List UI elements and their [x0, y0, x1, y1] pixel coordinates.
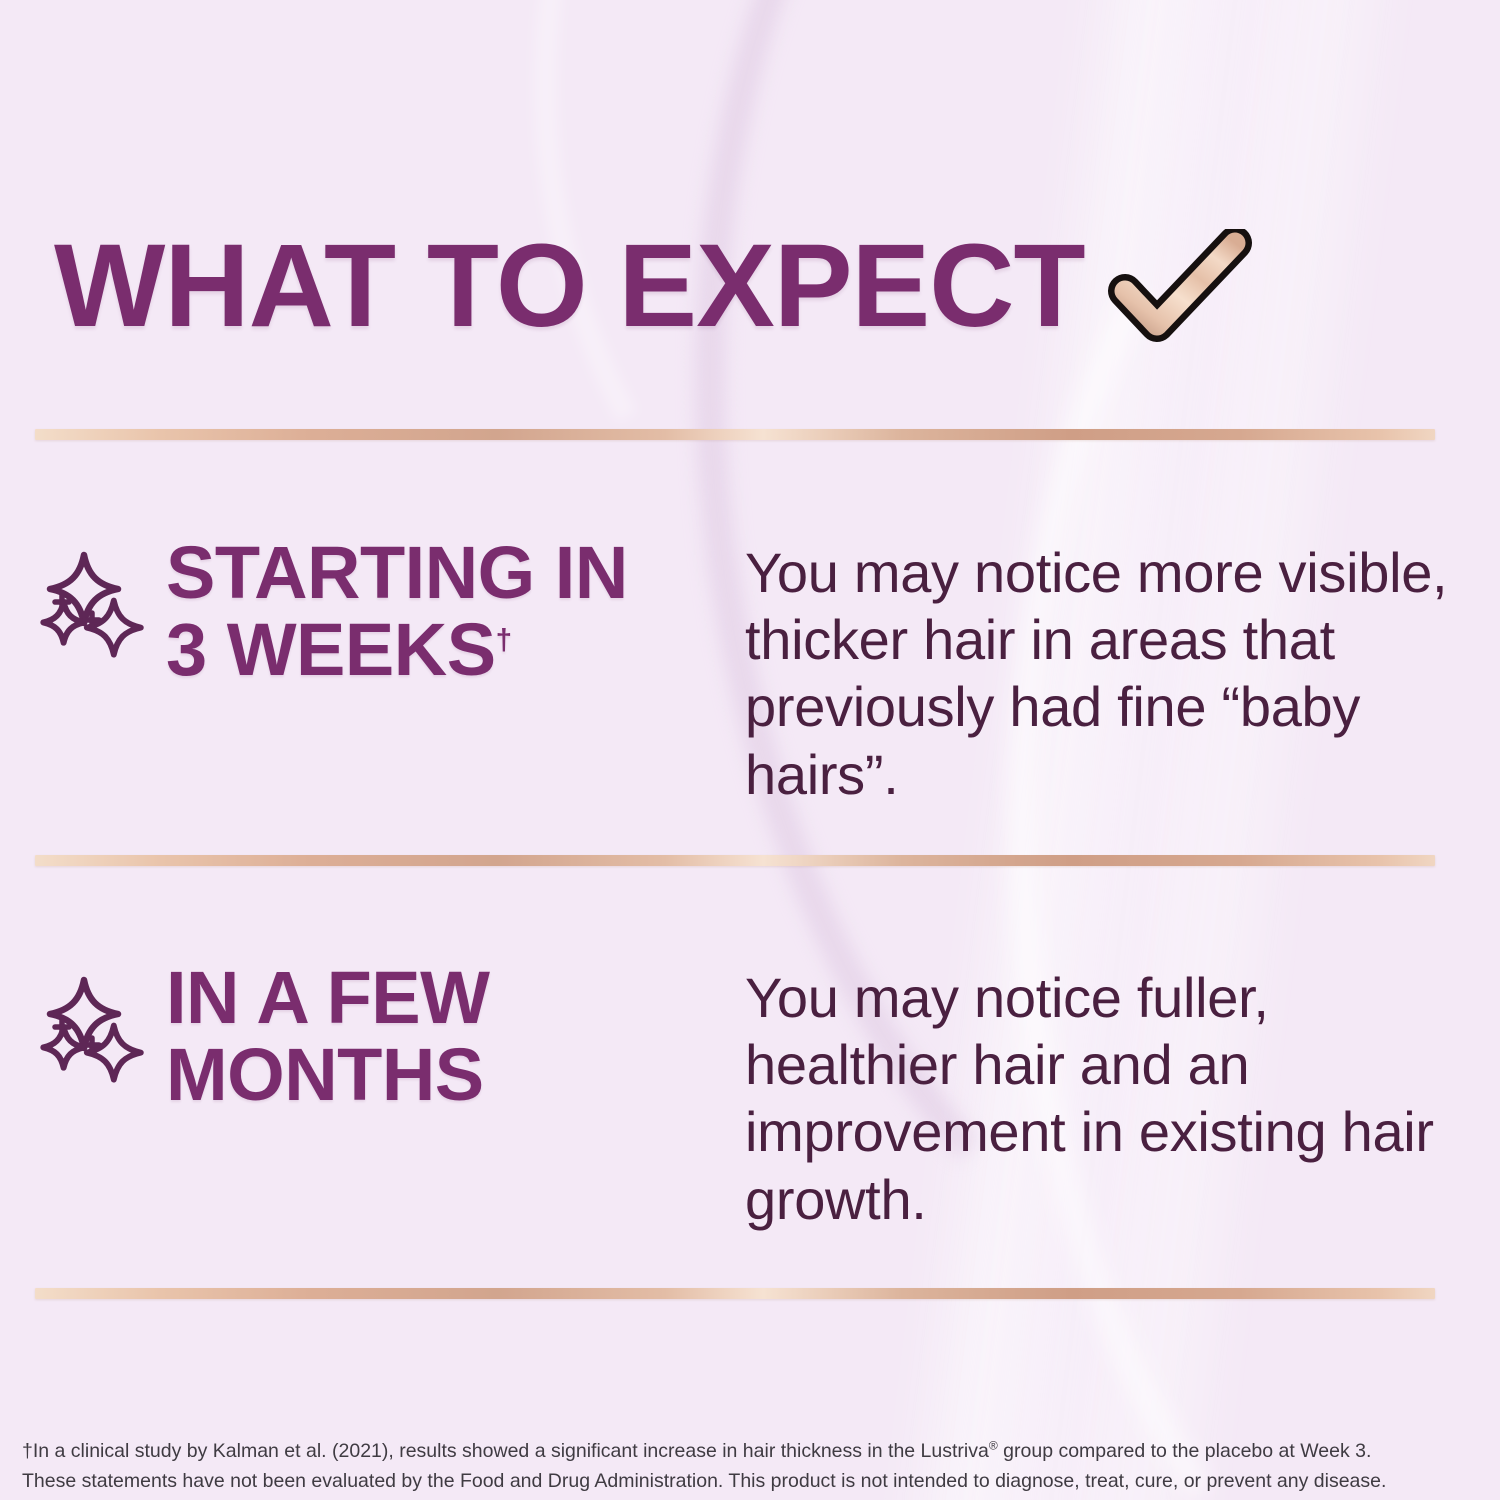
- sparkles-icon: [40, 549, 152, 661]
- section-heading-line-2: 3 WEEKS: [166, 608, 496, 691]
- divider-top: [35, 429, 1435, 440]
- section-body-group: You may notice fuller, healthier hair an…: [745, 960, 1450, 1233]
- section-heading: STARTING IN 3 WEEKS†: [152, 535, 628, 689]
- check-icon: [1107, 229, 1257, 349]
- registered-mark: ®: [989, 1439, 998, 1453]
- section-heading-group: IN A FEW MONTHS: [40, 960, 745, 1233]
- page-title: WHAT TO EXPECT: [54, 227, 1085, 345]
- header: WHAT TO EXPECT: [54, 222, 1454, 350]
- footnote-line-2: These statements have not been evaluated…: [22, 1467, 1462, 1497]
- section-heading-line-1: STARTING IN: [166, 531, 628, 614]
- infographic-page: WHAT TO EXPECT: [0, 0, 1500, 1500]
- sparkles-icon: [40, 974, 152, 1086]
- section-in-a-few-months: IN A FEW MONTHS You may notice fuller, h…: [40, 960, 1450, 1233]
- section-body-text: You may notice more visible, thicker hai…: [745, 539, 1450, 808]
- section-starting-in-3-weeks: STARTING IN 3 WEEKS† You may notice more…: [40, 535, 1450, 808]
- section-heading: IN A FEW MONTHS: [152, 960, 489, 1114]
- footnote-line-1: †In a clinical study by Kalman et al. (2…: [22, 1437, 1462, 1467]
- divider-middle: [35, 855, 1435, 866]
- divider-bottom: [35, 1288, 1435, 1299]
- footnote-dagger: †: [22, 1440, 33, 1462]
- footnote-line-1-pre: In a clinical study by Kalman et al. (20…: [33, 1440, 989, 1462]
- section-body-text: You may notice fuller, healthier hair an…: [745, 964, 1450, 1233]
- section-heading-line-2: MONTHS: [166, 1033, 484, 1116]
- footnote-marker: †: [496, 623, 512, 656]
- section-body-group: You may notice more visible, thicker hai…: [745, 535, 1450, 808]
- section-heading-group: STARTING IN 3 WEEKS†: [40, 535, 745, 808]
- footnote-line-1-post: group compared to the placebo at Week 3.: [998, 1440, 1372, 1462]
- footnotes: †In a clinical study by Kalman et al. (2…: [22, 1437, 1462, 1496]
- section-heading-line-1: IN A FEW: [166, 956, 489, 1039]
